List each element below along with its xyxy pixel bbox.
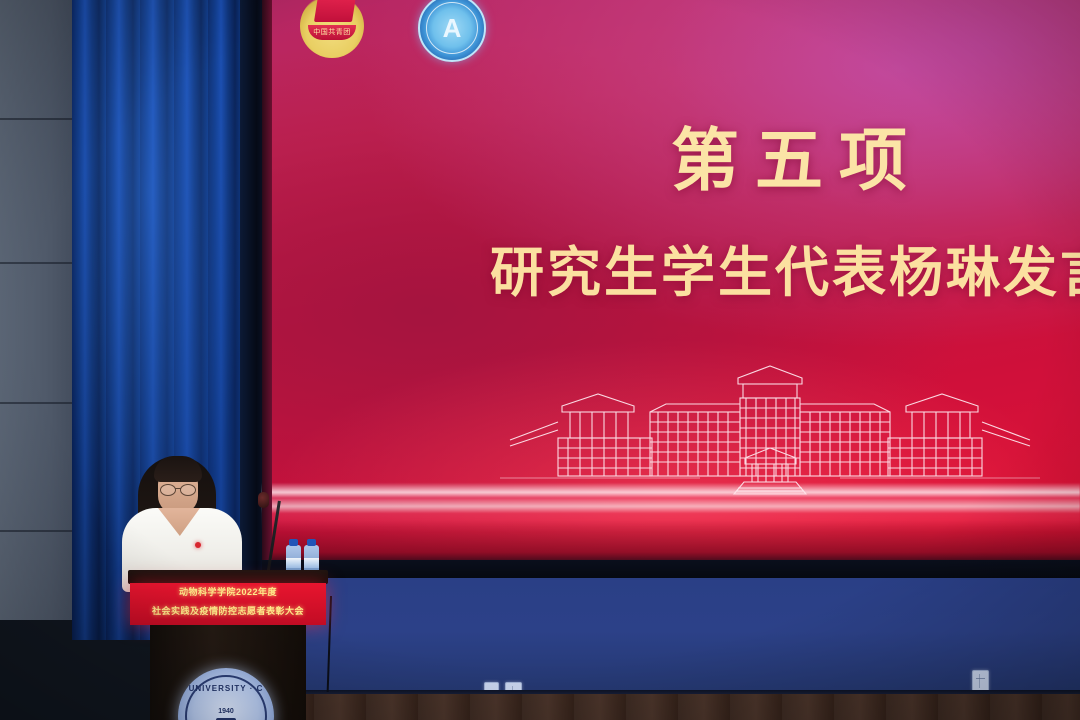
podium-seal-text: UNIVERSITY · C (178, 684, 274, 693)
speaker-hair-top (154, 456, 202, 482)
speaker-lapel-pin-icon (195, 542, 201, 548)
screen-emblems: 中国共青团 A (300, 0, 520, 64)
communist-youth-league-emblem-icon: 中国共青团 (300, 0, 364, 58)
led-screen: 中国共青团 A 第五项 研究生学生代表杨琳发言 (262, 0, 1080, 566)
stage-scene: 中国共青团 A 第五项 研究生学生代表杨琳发言 (0, 0, 1080, 720)
microphone-icon (258, 492, 269, 508)
league-ribbon-text: 中国共青团 (308, 25, 356, 40)
speaker-glasses-icon (160, 484, 196, 494)
podium-top-surface (128, 570, 328, 584)
stage-floor (262, 694, 1080, 720)
podium-seal-year: 1940 (178, 708, 274, 715)
wall-outlet-right-icon (972, 670, 989, 692)
lower-stage-wall (262, 578, 1080, 696)
league-flag-icon (314, 0, 356, 22)
screen-headline-primary: 第五项 (652, 105, 942, 204)
university-seal-emblem-icon: A (418, 0, 486, 62)
podium-banner-line-2: 社会实践及疫情防控志愿者表彰大会 (130, 602, 326, 621)
podium-led-banner: 动物科学学院2022年度 社会实践及疫情防控志愿者表彰大会 (130, 583, 326, 625)
seal-glyph: A (420, 0, 484, 60)
podium-banner-line-1: 动物科学学院2022年度 (130, 583, 326, 602)
screen-headline-secondary: 研究生学生代表杨琳发言 (490, 228, 1080, 307)
